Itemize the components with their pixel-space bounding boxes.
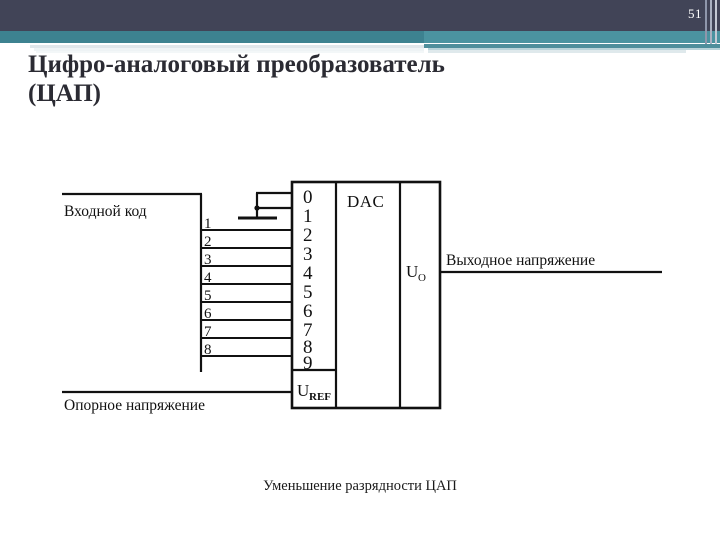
figure-caption: Уменьшение разрядности ЦАП — [0, 478, 720, 495]
output-pin-label: U O — [406, 262, 426, 284]
bus-number-6: 6 — [204, 306, 212, 322]
dac-pin-9: 9 — [303, 353, 313, 374]
dac-block-diagram: Входной код 1 2 3 4 5 6 7 8 Опорное напр… — [0, 0, 720, 540]
dac-pin-4: 4 — [303, 263, 313, 284]
reference-pin-label: U REF — [297, 381, 331, 403]
reference-pin-symbol: U — [297, 381, 309, 400]
dac-pin-1: 1 — [303, 206, 313, 227]
dac-pin-2: 2 — [303, 225, 313, 246]
dac-pin-0: 0 — [303, 187, 313, 208]
dac-chip-body — [292, 182, 440, 408]
bus-number-1: 1 — [204, 216, 212, 232]
bus-number-3: 3 — [204, 252, 212, 268]
dac-chip-label: DAC — [347, 192, 384, 211]
bus-number-5: 5 — [204, 288, 212, 304]
output-pin-subscript: O — [418, 272, 426, 284]
bus-number-7: 7 — [204, 324, 212, 340]
dac-pin-6: 6 — [303, 301, 313, 322]
bus-branch-lines — [201, 230, 292, 356]
reference-voltage-label: Опорное напряжение — [64, 397, 205, 414]
bus-number-4: 4 — [204, 270, 212, 286]
dac-pin-numbers: 0 1 2 3 4 5 6 7 8 9 — [303, 187, 313, 374]
bus-number-2: 2 — [204, 234, 212, 250]
ground-symbol — [238, 193, 292, 218]
bus-line-numbers: 1 2 3 4 5 6 7 8 — [204, 216, 212, 358]
bus-number-8: 8 — [204, 342, 212, 358]
dac-pin-5: 5 — [303, 282, 313, 303]
output-pin-symbol: U — [406, 262, 418, 281]
reference-pin-subscript: REF — [309, 391, 331, 403]
dac-pin-3: 3 — [303, 244, 313, 265]
output-voltage-label: Выходное напряжение — [446, 252, 595, 269]
input-code-label: Входной код — [64, 203, 147, 220]
